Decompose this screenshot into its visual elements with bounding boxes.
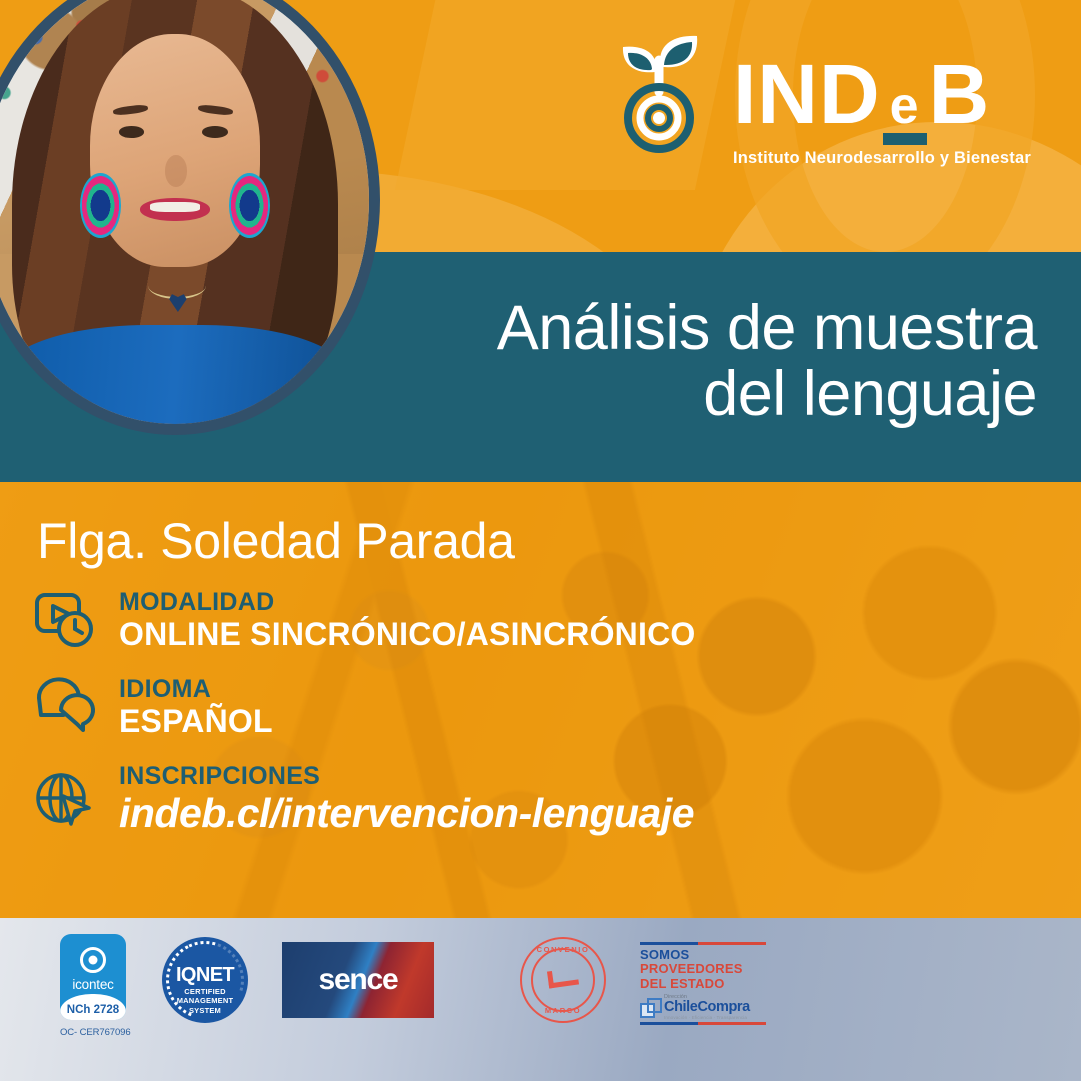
chilecompra-line-1: SOMOS	[640, 947, 766, 962]
convenio-marco-stamp: CONVENIO MARCO	[520, 937, 606, 1023]
certification-logo-row: icontec NCh 2728 OC- CER767096 IQNET CER…	[60, 934, 766, 1038]
info-row-inscripciones: INSCRIPCIONES indeb.cl/intervencion-leng…	[33, 762, 893, 837]
presenter-photo-image	[0, 0, 369, 424]
photo-shirt	[4, 325, 345, 424]
photo-teeth	[150, 202, 200, 212]
photo-face	[90, 34, 261, 267]
certification-footer: icontec NCh 2728 OC- CER767096 IQNET CER…	[0, 918, 1081, 1081]
icontec-logo: icontec NCh 2728 OC- CER767096	[60, 934, 128, 1038]
photo-eye-right	[202, 126, 228, 138]
photo-earring-right	[229, 173, 270, 238]
title-line-2: del lenguaje	[497, 361, 1037, 427]
logo-subtitle: Instituto Neurodesarrollo y Bienestar	[733, 149, 1031, 168]
photo-earring-left	[80, 173, 121, 238]
stamp-bottom-text: MARCO	[522, 1006, 604, 1015]
icontec-spiral-icon	[80, 947, 106, 973]
registration-url[interactable]: indeb.cl/intervencion-lenguaje	[119, 790, 694, 837]
info-value-modalidad: ONLINE SINCRÓNICO/ASINCRÓNICO	[119, 616, 696, 653]
sence-logo: sence	[282, 942, 434, 1018]
icontec-standard: NCh 2728	[60, 1004, 126, 1016]
stamp-top-text: CONVENIO	[522, 945, 604, 954]
sence-name: sence	[282, 963, 434, 997]
logo-word-part-2: B	[929, 56, 991, 133]
icontec-name: icontec	[60, 977, 126, 992]
icontec-badge: icontec NCh 2728	[60, 934, 126, 1020]
info-row-modalidad: MODALIDAD ONLINE SINCRÓNICO/ASINCRÓNICO	[33, 588, 893, 653]
iqnet-sub-line-2: MANAGEMENT	[162, 996, 248, 1005]
iqnet-sub-line-3: SYSTEM	[162, 1006, 248, 1015]
presenter-name: Flga. Soledad Parada	[37, 512, 515, 570]
info-text-modalidad: MODALIDAD ONLINE SINCRÓNICO/ASINCRÓNICO	[119, 588, 696, 653]
iqnet-name: IQNET	[162, 964, 248, 987]
logo-word-e: e	[890, 86, 920, 128]
chilecompra-squares-icon	[640, 998, 660, 1017]
chilecompra-brand-name: ChileCompra	[664, 1000, 750, 1015]
info-value-idioma: ESPAÑOL	[119, 703, 273, 740]
promotional-poster: IND e B Instituto Neurodesarrollo y Bien…	[0, 0, 1081, 1081]
logo-e-glyph-group: e	[883, 86, 927, 145]
presenter-photo	[0, 0, 380, 435]
globe-cursor-icon	[33, 768, 97, 830]
info-list: MODALIDAD ONLINE SINCRÓNICO/ASINCRÓNICO …	[33, 588, 893, 859]
info-text-inscripciones: INSCRIPCIONES indeb.cl/intervencion-leng…	[119, 762, 694, 837]
title-line-1: Análisis de muestra	[497, 295, 1037, 361]
photo-nose	[165, 155, 186, 186]
chilecompra-line-2: PROVEEDORES	[640, 962, 766, 977]
sprout-target-icon	[605, 34, 717, 156]
info-label-modalidad: MODALIDAD	[119, 588, 696, 616]
chilecompra-brand: Dirección ChileCompra Innovación · Efici…	[640, 995, 766, 1020]
photo-eye-left	[119, 126, 145, 138]
info-row-idioma: IDIOMA ESPAÑOL	[33, 675, 893, 740]
indeb-logo: IND e B Instituto Neurodesarrollo y Bien…	[605, 34, 1031, 168]
logo-word-part-1: IND	[733, 56, 881, 133]
chilecompra-tagline: Innovación · Eficiencia · Transparencia	[664, 1015, 750, 1020]
speech-bubbles-icon	[33, 676, 97, 738]
info-text-idioma: IDIOMA ESPAÑOL	[119, 675, 273, 740]
page-title: Análisis de muestra del lenguaje	[497, 295, 1037, 427]
info-label-inscripciones: INSCRIPCIONES	[119, 762, 694, 790]
iqnet-sub-line-1: CERTIFIED	[162, 987, 248, 996]
iqnet-logo: IQNET CERTIFIED MANAGEMENT SYSTEM	[162, 937, 248, 1023]
chilecompra-brand-text: Dirección ChileCompra Innovación · Efici…	[664, 995, 750, 1020]
chilecompra-logo: SOMOS PROVEEDORES DEL ESTADO Dirección C…	[640, 940, 766, 1027]
logo-wordmark: IND e B Instituto Neurodesarrollo y Bien…	[733, 34, 1031, 168]
chilecompra-line-3: DEL ESTADO	[640, 977, 766, 992]
info-label-idioma: IDIOMA	[119, 675, 273, 703]
logo-underline-bar	[883, 133, 927, 145]
icontec-code: OC- CER767096	[60, 1027, 128, 1038]
chilecompra-top-rule	[640, 942, 766, 945]
iqnet-subtitle: CERTIFIED MANAGEMENT SYSTEM	[162, 987, 248, 1015]
chilecompra-bottom-rule	[640, 1022, 766, 1025]
photo-necklace-chain	[148, 272, 206, 299]
video-clock-icon	[33, 589, 97, 651]
